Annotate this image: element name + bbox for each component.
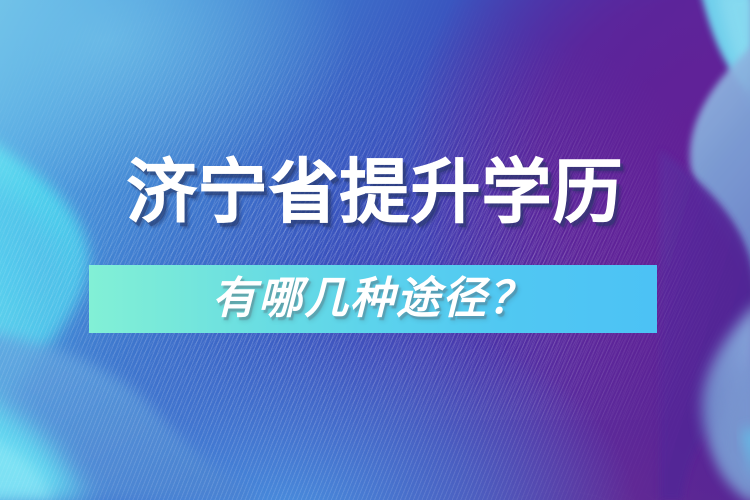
banner-subtitle: 有哪几种途径？	[212, 277, 534, 321]
promo-banner: 济宁省提升学历 有哪几种途径？	[0, 0, 750, 500]
banner-title: 济宁省提升学历	[0, 157, 750, 227]
banner-subtitle-bar: 有哪几种途径？	[89, 265, 657, 333]
